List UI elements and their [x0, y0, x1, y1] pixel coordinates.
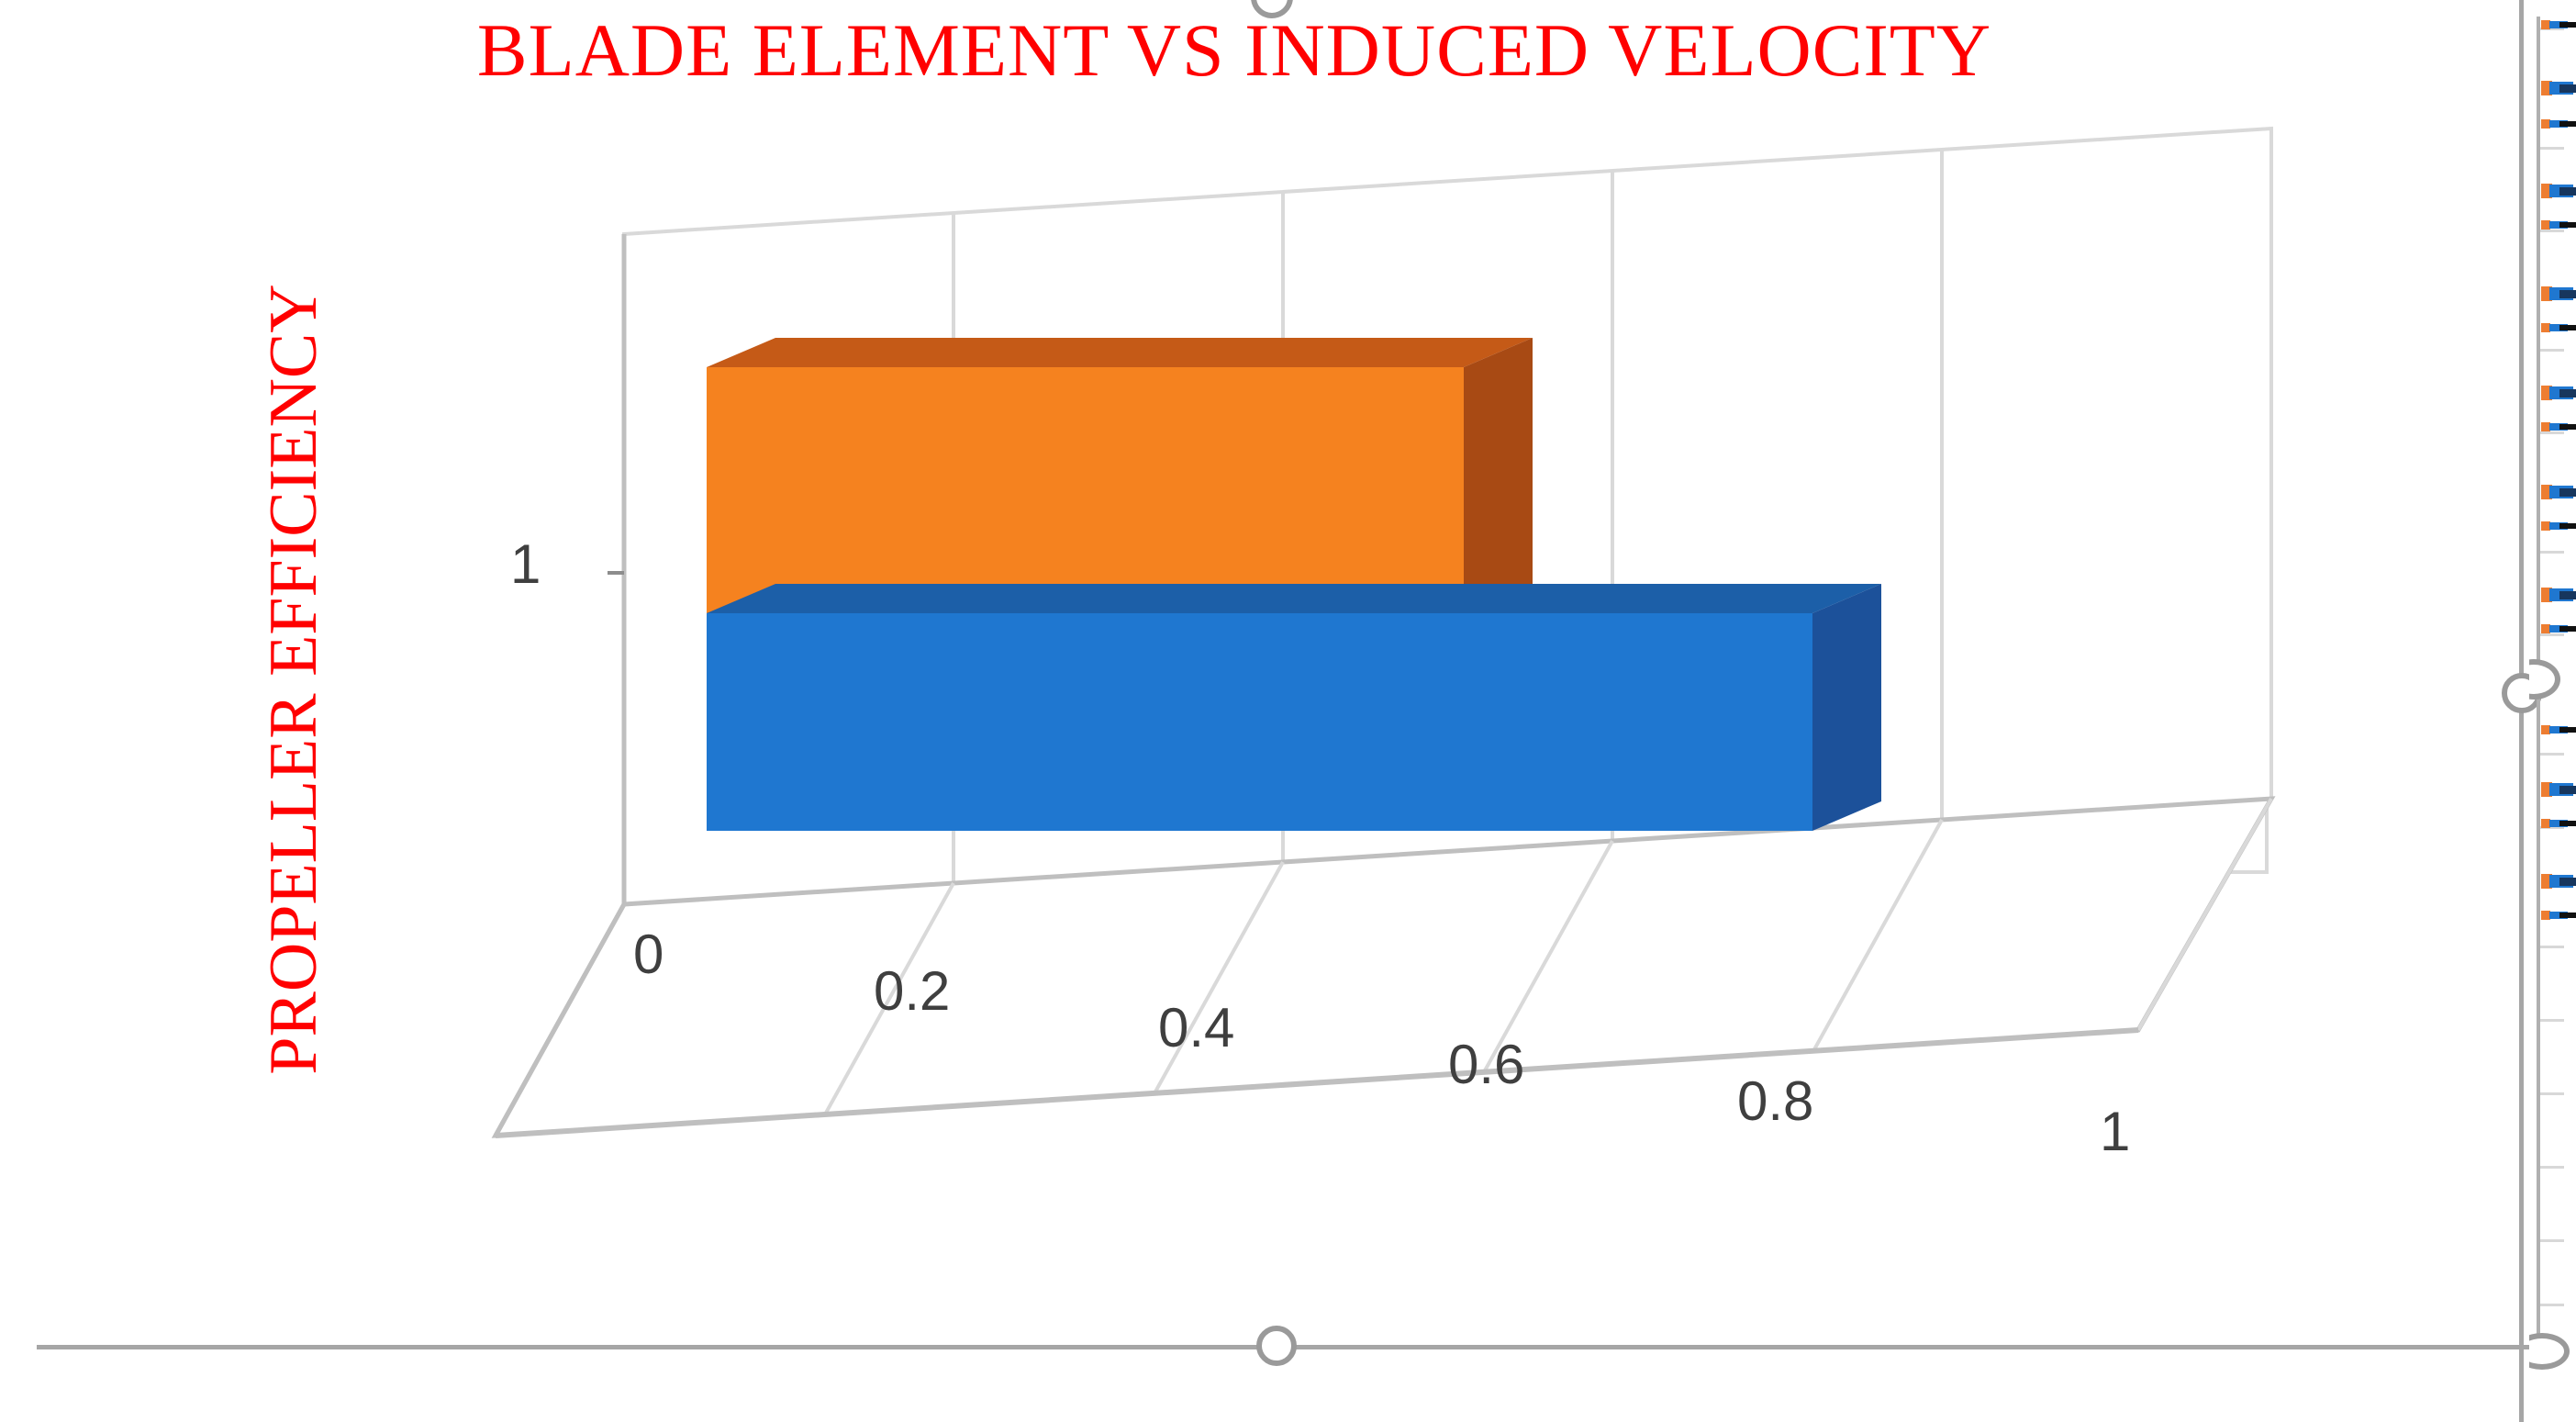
document-canvas: BLADE ELEMENT VS INDUCED VELOCITY PROPEL… [0, 0, 2576, 1422]
chart-walls [624, 266, 2267, 872]
adjacent-chart-cropped[interactable] [2529, 0, 2576, 1422]
chart-floor-gridlines [825, 799, 2271, 1114]
bar-induced-velocity [707, 338, 1533, 613]
neighbour-tick [2540, 633, 2564, 636]
x-axis-tick-label-0: 0 [633, 923, 664, 986]
neighbour-resize-handle-bottom[interactable] [2529, 1333, 2570, 1370]
chart-floor-left-edge [496, 904, 624, 1136]
x-axis-tick-label-2: 0.4 [1158, 996, 1234, 1059]
neighbour-tick [2540, 431, 2564, 434]
neighbour-tick [2540, 1019, 2564, 1022]
neighbour-tick [2540, 349, 2564, 352]
chart-floor [496, 799, 2271, 1136]
x-axis-tick-label-1: 0.2 [874, 959, 950, 1023]
y-axis-tick-label-1: 1 [510, 532, 541, 596]
chart-vertical-gridlines [953, 150, 1942, 883]
neighbour-tick [2540, 1304, 2564, 1306]
chart-back-wall [624, 129, 2271, 904]
neighbour-tick [2540, 1239, 2564, 1242]
neighbour-tick [2540, 551, 2564, 554]
neighbour-tick [2540, 1166, 2564, 1169]
neighbour-tick [2540, 1092, 2564, 1095]
chart-y-axis-title[interactable]: PROPELLER EFFICIENCY [243, 275, 344, 1083]
resize-handle-bottom-middle[interactable] [1256, 1326, 1297, 1366]
neighbour-tick [2540, 946, 2564, 948]
bar-blade-element [707, 584, 1881, 831]
x-axis-tick-label-3: 0.6 [1448, 1033, 1524, 1096]
chart-floor-front-edge [496, 1030, 2138, 1136]
chart-plot-area-3d [0, 0, 2576, 1422]
neighbour-resize-handle-left-middle[interactable] [2529, 659, 2560, 700]
neighbour-tick [2540, 753, 2564, 756]
neighbour-tick [2540, 230, 2564, 232]
chart-depth-edges [624, 234, 2271, 904]
x-axis-tick-label-4: 0.8 [1737, 1069, 1813, 1133]
chart-title[interactable]: BLADE ELEMENT VS INDUCED VELOCITY [0, 7, 2469, 94]
neighbour-tick [2540, 147, 2564, 150]
x-axis-tick-label-5: 1 [2100, 1100, 2130, 1163]
